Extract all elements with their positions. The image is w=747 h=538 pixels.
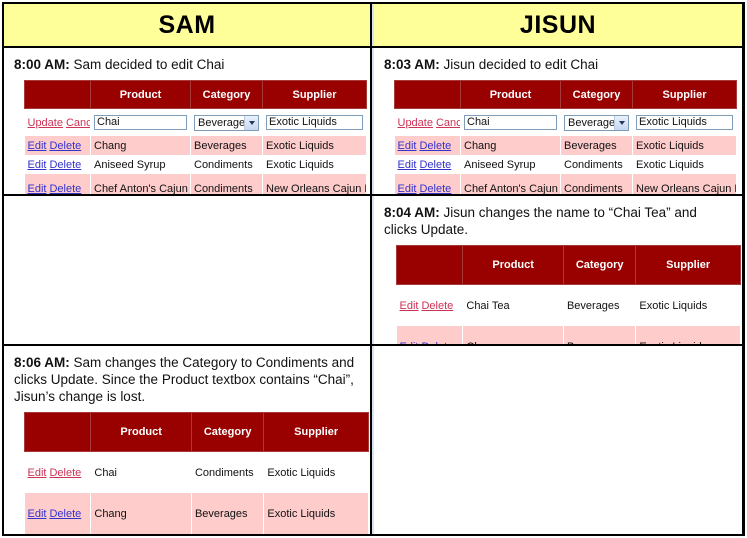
col-command: [397, 246, 463, 285]
banner-cell-sam: SAM: [4, 4, 372, 46]
narrative-text-0800: Sam decided to edit Chai: [70, 57, 225, 72]
col-command: [25, 413, 91, 452]
cell-category: Condiments: [191, 452, 263, 494]
cell-category: Beverages: [563, 285, 635, 327]
update-link[interactable]: Update: [398, 117, 433, 129]
col-category: Category: [563, 246, 635, 285]
cell-supplier: Exotic Liquids: [263, 155, 367, 174]
cancel-link[interactable]: Cancel: [66, 117, 91, 129]
gridview-sam-0800: Product Category Supplier UpdateCancel: [24, 80, 367, 194]
col-supplier: Supplier: [636, 246, 741, 285]
table-row: EditDelete Chang Beverages Exotic Liquid…: [25, 136, 367, 155]
narrative-text-0803: Jisun decided to edit Chai: [440, 57, 598, 72]
cell-commands: EditDelete: [395, 136, 461, 155]
table-row: EditDelete Chef Anton's Cajun Condiments…: [395, 174, 737, 194]
edit-link[interactable]: Edit: [28, 140, 47, 152]
col-product: Product: [91, 413, 192, 452]
category-dropdown[interactable]: Beverages: [564, 115, 629, 131]
cell-product: Chef Anton's Cajun: [461, 174, 561, 194]
cell-commands: EditDelete: [397, 326, 463, 344]
delete-link[interactable]: Delete: [49, 508, 81, 520]
table-row: EditDelete Chang Beverages Exotic Liquid…: [395, 136, 737, 155]
edit-link[interactable]: Edit: [28, 467, 47, 479]
banner-row: SAM JISUN: [4, 4, 742, 48]
timestamp-0804: 8:04 AM:: [384, 205, 440, 220]
pane-sam-empty: [4, 196, 370, 344]
category-dropdown-value: Beverages: [565, 117, 614, 129]
chevron-down-icon[interactable]: [614, 116, 628, 130]
table-row-editing: UpdateCancel Beverages: [395, 109, 737, 137]
timestamp-0806: 8:06 AM:: [14, 355, 70, 370]
cell-commands: UpdateCancel: [25, 109, 91, 137]
pane-sam-0806: 8:06 AM: Sam changes the Category to Con…: [4, 346, 370, 534]
cell-supplier: Exotic Liquids: [636, 326, 741, 344]
delete-link[interactable]: Delete: [419, 159, 451, 171]
cell-product-editor: [461, 109, 561, 137]
chevron-down-icon[interactable]: [244, 116, 258, 130]
gridview-sam-0806: Product Category Supplier EditDelete Cha…: [24, 412, 369, 534]
banner-jisun: JISUN: [374, 4, 742, 46]
cell-supplier-editor: [633, 109, 737, 137]
edit-link[interactable]: Edit: [400, 300, 419, 312]
banner-cell-jisun: JISUN: [372, 4, 742, 46]
gridview-jisun-0804: Product Category Supplier EditDelete Cha…: [396, 245, 741, 344]
narrative-sam-0800: 8:00 AM: Sam decided to edit Chai: [14, 56, 360, 73]
cell-supplier: Exotic Liquids: [633, 136, 737, 155]
delete-link[interactable]: Delete: [49, 159, 81, 171]
product-textbox[interactable]: [464, 115, 557, 130]
delete-link[interactable]: Delete: [421, 300, 453, 312]
col-category: Category: [191, 81, 263, 109]
cell-supplier: Exotic Liquids: [263, 136, 367, 155]
cell-supplier: New Orleans Cajun Delights: [633, 174, 737, 194]
update-link[interactable]: Update: [28, 117, 63, 129]
cell-category-editor: Beverages: [191, 109, 263, 137]
timeline-row-1: 8:00 AM: Sam decided to edit Chai Produc…: [4, 48, 742, 196]
table-row: EditDelete Chef Anton's Cajun Condiments…: [25, 174, 367, 194]
cell-product: Chai Tea: [463, 285, 564, 327]
col-supplier: Supplier: [633, 81, 737, 109]
col-category: Category: [561, 81, 633, 109]
cell-sam-empty: [4, 196, 372, 344]
banner-title-jisun: JISUN: [520, 11, 596, 40]
table-row: EditDelete Chang Beverages Exotic Liquid…: [25, 493, 369, 534]
table-header-row: Product Category Supplier: [25, 413, 369, 452]
cell-commands: UpdateCancel: [395, 109, 461, 137]
cell-commands: EditDelete: [395, 174, 461, 194]
cell-supplier-editor: [263, 109, 367, 137]
cell-jisun-0804: 8:04 AM: Jisun changes the name to “Chai…: [372, 196, 742, 344]
timeline-row-3: 8:06 AM: Sam changes the Category to Con…: [4, 346, 742, 534]
cell-supplier: New Orleans Cajun Delights: [263, 174, 367, 194]
narrative-jisun-0803: 8:03 AM: Jisun decided to edit Chai: [384, 56, 732, 73]
cell-category: Beverages: [191, 493, 263, 534]
cell-product: Aniseed Syrup: [91, 155, 191, 174]
cell-sam-0806: 8:06 AM: Sam changes the Category to Con…: [4, 346, 372, 534]
cell-product: Aniseed Syrup: [461, 155, 561, 174]
pane-sam-0800: 8:00 AM: Sam decided to edit Chai Produc…: [4, 48, 370, 194]
timestamp-0800: 8:00 AM:: [14, 57, 70, 72]
table-row: EditDelete Chai Tea Beverages Exotic Liq…: [397, 285, 741, 327]
edit-link[interactable]: Edit: [28, 159, 47, 171]
comparison-grid: SAM JISUN 8:00 AM: Sam decided to edit C…: [2, 2, 745, 536]
banner-title-sam: SAM: [158, 11, 215, 40]
cell-category: Condiments: [561, 174, 633, 194]
table-row: EditDelete Chai Condiments Exotic Liquid…: [25, 452, 369, 494]
cell-category: Beverages: [561, 136, 633, 155]
cell-sam-0800: 8:00 AM: Sam decided to edit Chai Produc…: [4, 48, 372, 194]
delete-link[interactable]: Delete: [421, 341, 453, 345]
cell-supplier: Exotic Liquids: [636, 285, 741, 327]
cell-jisun-empty: [372, 346, 742, 534]
delete-link[interactable]: Delete: [419, 140, 451, 152]
col-command: [25, 81, 91, 109]
category-dropdown[interactable]: Beverages: [194, 115, 259, 131]
supplier-textbox[interactable]: [636, 115, 733, 130]
cell-category: Beverages: [563, 326, 635, 344]
table-row: EditDelete Chang Beverages Exotic Liquid…: [397, 326, 741, 344]
table-header-row: Product Category Supplier: [395, 81, 737, 109]
delete-link[interactable]: Delete: [419, 183, 451, 195]
edit-link[interactable]: Edit: [398, 159, 417, 171]
delete-link[interactable]: Delete: [49, 140, 81, 152]
cancel-link[interactable]: Cancel: [436, 117, 461, 129]
table-row: EditDelete Aniseed Syrup Condiments Exot…: [25, 155, 367, 174]
cell-supplier: Exotic Liquids: [633, 155, 737, 174]
cell-supplier: Exotic Liquids: [264, 493, 369, 534]
table-header-row: Product Category Supplier: [25, 81, 367, 109]
cell-commands: EditDelete: [397, 285, 463, 327]
cell-category: Condiments: [561, 155, 633, 174]
col-command: [395, 81, 461, 109]
timestamp-0803: 8:03 AM:: [384, 57, 440, 72]
narrative-sam-0806: 8:06 AM: Sam changes the Category to Con…: [14, 354, 360, 405]
cell-category: Condiments: [191, 155, 263, 174]
col-supplier: Supplier: [264, 413, 369, 452]
delete-link[interactable]: Delete: [49, 183, 81, 195]
pane-jisun-empty: [374, 346, 742, 534]
cell-commands: EditDelete: [25, 174, 91, 194]
col-product: Product: [463, 246, 564, 285]
cell-product: Chang: [91, 493, 192, 534]
col-product: Product: [91, 81, 191, 109]
cell-product: Chef Anton's Cajun: [91, 174, 191, 194]
col-product: Product: [461, 81, 561, 109]
cell-product: Chang: [91, 136, 191, 155]
cell-commands: EditDelete: [25, 136, 91, 155]
cell-commands: EditDelete: [25, 452, 91, 494]
storyboard-page: SAM JISUN 8:00 AM: Sam decided to edit C…: [0, 0, 747, 538]
gridview-jisun-0803: Product Category Supplier UpdateCancel: [394, 80, 737, 194]
timeline-row-2: 8:04 AM: Jisun changes the name to “Chai…: [4, 196, 742, 346]
cell-product-editor: [91, 109, 191, 137]
cell-category: Beverages: [191, 136, 263, 155]
cell-category-editor: Beverages: [561, 109, 633, 137]
delete-link[interactable]: Delete: [49, 467, 81, 479]
cell-category: Condiments: [191, 174, 263, 194]
table-row: EditDelete Aniseed Syrup Condiments Exot…: [395, 155, 737, 174]
cell-commands: EditDelete: [25, 155, 91, 174]
col-supplier: Supplier: [263, 81, 367, 109]
edit-link[interactable]: Edit: [28, 183, 47, 195]
edit-link[interactable]: Edit: [398, 183, 417, 195]
cell-jisun-0803: 8:03 AM: Jisun decided to edit Chai Prod…: [372, 48, 742, 194]
table-header-row: Product Category Supplier: [397, 246, 741, 285]
table-row-editing: UpdateCancel Beverages: [25, 109, 367, 137]
category-dropdown-value: Beverages: [195, 117, 244, 129]
cell-product: Chang: [461, 136, 561, 155]
cell-product: Chai: [91, 452, 192, 494]
supplier-textbox[interactable]: [266, 115, 363, 130]
product-textbox[interactable]: [94, 115, 187, 130]
pane-jisun-0803: 8:03 AM: Jisun decided to edit Chai Prod…: [374, 48, 742, 194]
cell-supplier: Exotic Liquids: [264, 452, 369, 494]
edit-link[interactable]: Edit: [398, 140, 417, 152]
edit-link[interactable]: Edit: [28, 508, 47, 520]
cell-product: Chang: [463, 326, 564, 344]
cell-commands: EditDelete: [25, 493, 91, 534]
edit-link[interactable]: Edit: [400, 341, 419, 345]
col-category: Category: [191, 413, 263, 452]
banner-sam: SAM: [4, 4, 370, 46]
narrative-jisun-0804: 8:04 AM: Jisun changes the name to “Chai…: [384, 204, 732, 238]
pane-jisun-0804: 8:04 AM: Jisun changes the name to “Chai…: [374, 196, 742, 344]
cell-commands: EditDelete: [395, 155, 461, 174]
